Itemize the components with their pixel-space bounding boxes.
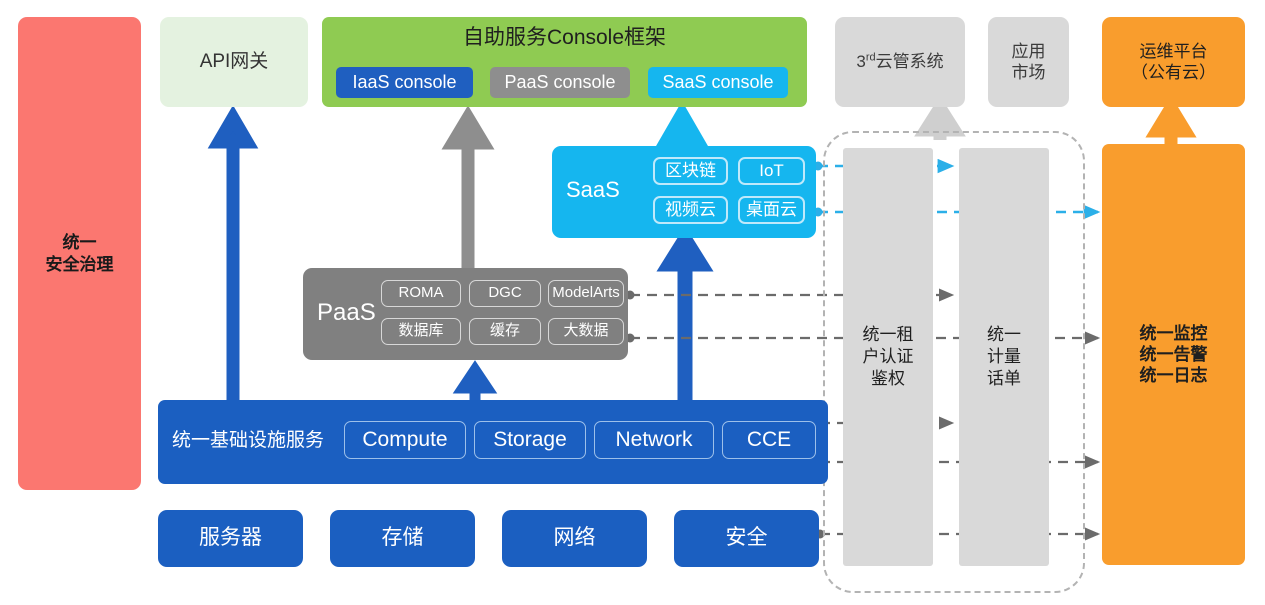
infrastructure-label: 统一基础设施服务 xyxy=(172,429,324,453)
saas-chip-desktop-cloud[interactable]: 桌面云 xyxy=(738,196,805,224)
infra-chip-network[interactable]: Network xyxy=(594,421,714,459)
paas-layer-label: PaaS xyxy=(317,298,376,328)
self-service-console-frame[interactable]: 自助服务Console框架 IaaS console PaaS console … xyxy=(322,17,807,107)
base-resource-storage[interactable]: 存储 xyxy=(330,510,475,567)
app-market-line-1: 应用 xyxy=(1012,41,1046,62)
unified-tenant-auth-bar[interactable]: 统一租 户认证 鉴权 xyxy=(843,148,933,566)
security-line-2: 安全治理 xyxy=(46,254,114,275)
paas-chip-roma[interactable]: ROMA xyxy=(381,280,461,307)
saas-console-chip[interactable]: SaaS console xyxy=(648,67,788,98)
base-resource-security[interactable]: 安全 xyxy=(674,510,819,567)
paas-chip-cache[interactable]: 缓存 xyxy=(469,318,541,345)
billing-line-3: 话单 xyxy=(987,368,1021,390)
third-party-prefix: 3 xyxy=(856,52,865,71)
arrow-infra-to-paas xyxy=(463,370,487,400)
paas-layer-box[interactable]: PaaS ROMA DGC ModelArts 数据库 缓存 大数据 xyxy=(303,268,628,360)
ops-platform-public-cloud-box[interactable]: 运维平台 （公有云） xyxy=(1102,17,1245,107)
infra-chip-cce[interactable]: CCE xyxy=(722,421,816,459)
iaas-console-chip[interactable]: IaaS console xyxy=(336,67,473,98)
paas-chip-bigdata[interactable]: 大数据 xyxy=(548,318,624,345)
ops-panel-line-2: 统一告警 xyxy=(1140,344,1208,365)
arrow-infra-to-saas xyxy=(670,240,700,400)
ops-panel-line-1: 统一监控 xyxy=(1140,323,1208,344)
app-market-box[interactable]: 应用 市场 xyxy=(988,17,1069,107)
paas-chip-database[interactable]: 数据库 xyxy=(381,318,461,345)
arrow-paas-to-console xyxy=(453,118,483,268)
paas-chip-modelarts[interactable]: ModelArts xyxy=(548,280,624,307)
base-resource-server[interactable]: 服务器 xyxy=(158,510,303,567)
ops-top-line-1: 运维平台 xyxy=(1131,41,1216,62)
base-resource-network[interactable]: 网络 xyxy=(502,510,647,567)
api-gateway-box[interactable]: API网关 xyxy=(160,17,308,107)
saas-chip-iot[interactable]: IoT xyxy=(738,157,805,185)
unified-ops-panel[interactable]: 统一监控 统一告警 统一日志 xyxy=(1102,144,1245,565)
paas-console-chip[interactable]: PaaS console xyxy=(490,67,630,98)
auth-line-3: 鉴权 xyxy=(863,368,914,390)
console-frame-title: 自助服务Console框架 xyxy=(322,25,807,51)
third-party-superscript: rd xyxy=(866,52,876,64)
app-market-line-2: 市场 xyxy=(1012,62,1046,83)
arrow-to-ops-platform xyxy=(1157,108,1185,144)
ops-top-line-2: （公有云） xyxy=(1131,62,1216,83)
billing-line-1: 统一 xyxy=(987,324,1021,346)
auth-line-1: 统一租 xyxy=(863,324,914,346)
unified-security-governance-panel[interactable]: 统一 安全治理 xyxy=(18,17,141,490)
unified-metering-billing-bar[interactable]: 统一 计量 话单 xyxy=(959,148,1049,566)
saas-layer-box[interactable]: SaaS 区块链 IoT 视频云 桌面云 xyxy=(552,146,816,238)
arrow-infra-to-api xyxy=(219,118,247,400)
paas-chip-dgc[interactable]: DGC xyxy=(469,280,541,307)
third-party-label: 3rd云管系统 xyxy=(856,51,943,72)
auth-line-2: 户认证 xyxy=(863,346,914,368)
infra-chip-storage[interactable]: Storage xyxy=(474,421,586,459)
infra-chip-compute[interactable]: Compute xyxy=(344,421,466,459)
unified-infrastructure-service-bar[interactable]: 统一基础设施服务 Compute Storage Network CCE xyxy=(158,400,828,484)
third-party-cloud-management-box[interactable]: 3rd云管系统 xyxy=(835,17,965,107)
saas-chip-video-cloud[interactable]: 视频云 xyxy=(653,196,728,224)
saas-chip-blockchain[interactable]: 区块链 xyxy=(653,157,728,185)
security-line-1: 统一 xyxy=(46,232,114,253)
third-party-suffix: 云管系统 xyxy=(876,52,944,71)
billing-line-2: 计量 xyxy=(987,346,1021,368)
saas-layer-label: SaaS xyxy=(566,176,620,204)
api-gateway-label: API网关 xyxy=(200,50,269,74)
ops-panel-line-3: 统一日志 xyxy=(1140,365,1208,386)
arrow-saas-to-console xyxy=(667,114,697,146)
